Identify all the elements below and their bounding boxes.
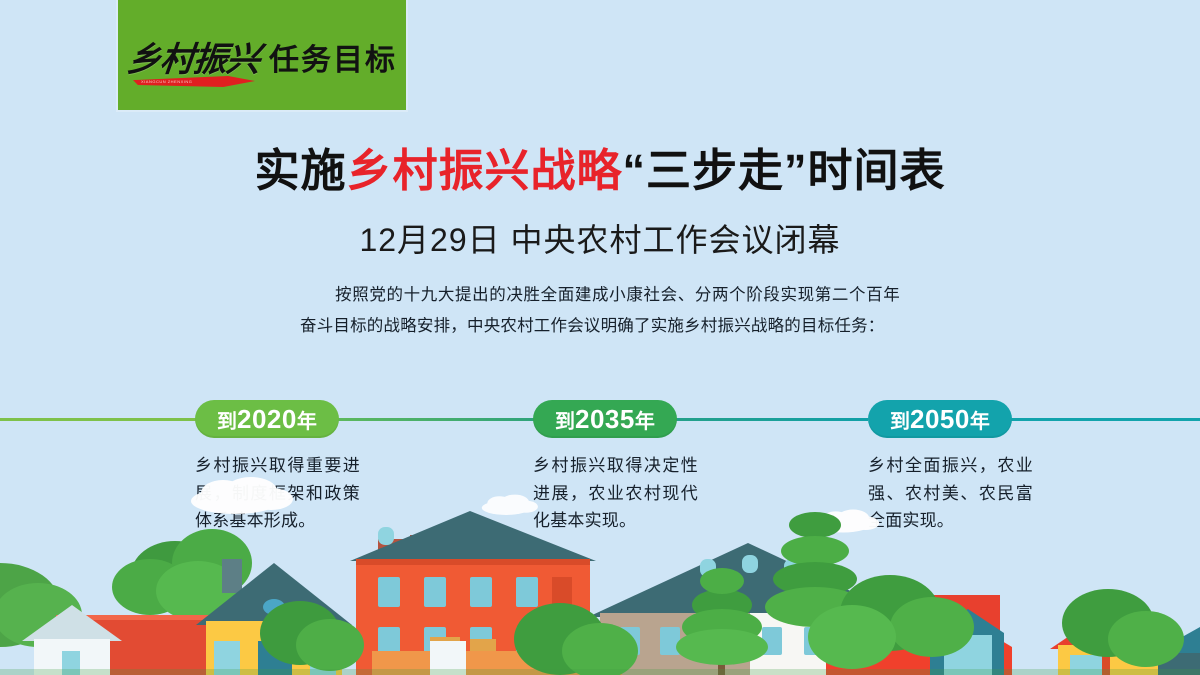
page-title-highlight: 乡村振兴战略 — [346, 145, 622, 196]
milestone-badge-2020[interactable]: 到2020年 — [195, 400, 339, 438]
timeline-line-segment-left — [0, 418, 200, 421]
logo-subtitle: 任务目标 — [269, 46, 397, 78]
cloud-icon — [482, 495, 538, 515]
lead-paragraph: 按照党的十九大提出的决胜全面建成小康社会、分两个阶段实现第二个百年奋斗目标的战略… — [300, 280, 900, 341]
milestone-badge-prefix: 到 — [217, 405, 237, 434]
milestone-badge-year: 2020 — [237, 404, 297, 435]
page-title: 实施乡村振兴战略“三步走”时间表 — [0, 148, 1200, 193]
logo-lockup: 乡村振兴 XIANGCUN ZHENXING 任务目标 — [127, 32, 397, 78]
logo-banner: 乡村振兴 XIANGCUN ZHENXING 任务目标 — [118, 0, 406, 110]
page-title-suffix: 时间表 — [808, 145, 946, 196]
milestone-badge-prefix: 到 — [555, 405, 575, 434]
milestone-badge-year: 2050 — [910, 404, 970, 435]
milestone-badge-2050[interactable]: 到2050年 — [868, 400, 1012, 438]
logo-stroke-caption: XIANGCUN ZHENXING — [141, 77, 237, 86]
milestone-badge-year: 2035 — [575, 404, 635, 435]
logo-brand-calligraphy: 乡村振兴 — [125, 44, 261, 78]
milestone-badge-suffix: 年 — [970, 405, 990, 434]
village-illustration — [0, 455, 1200, 675]
page-subtitle: 12月29日 中央农村工作会议闭幕 — [0, 215, 1200, 261]
milestone-badge-2035[interactable]: 到2035年 — [533, 400, 677, 438]
page-title-prefix: 实施 — [254, 145, 346, 196]
milestone-badge-suffix: 年 — [635, 405, 655, 434]
milestone-badge-suffix: 年 — [297, 405, 317, 434]
infographic-canvas: 乡村振兴 XIANGCUN ZHENXING 任务目标 实施乡村振兴战略“三步走… — [0, 0, 1200, 675]
lead-paragraph-text: 按照党的十九大提出的决胜全面建成小康社会、分两个阶段实现第二个百年奋斗目标的战略… — [300, 286, 900, 335]
cloud-icon — [191, 477, 293, 514]
page-title-quoted: “三步走” — [623, 145, 808, 196]
milestone-badge-prefix: 到 — [890, 405, 910, 434]
